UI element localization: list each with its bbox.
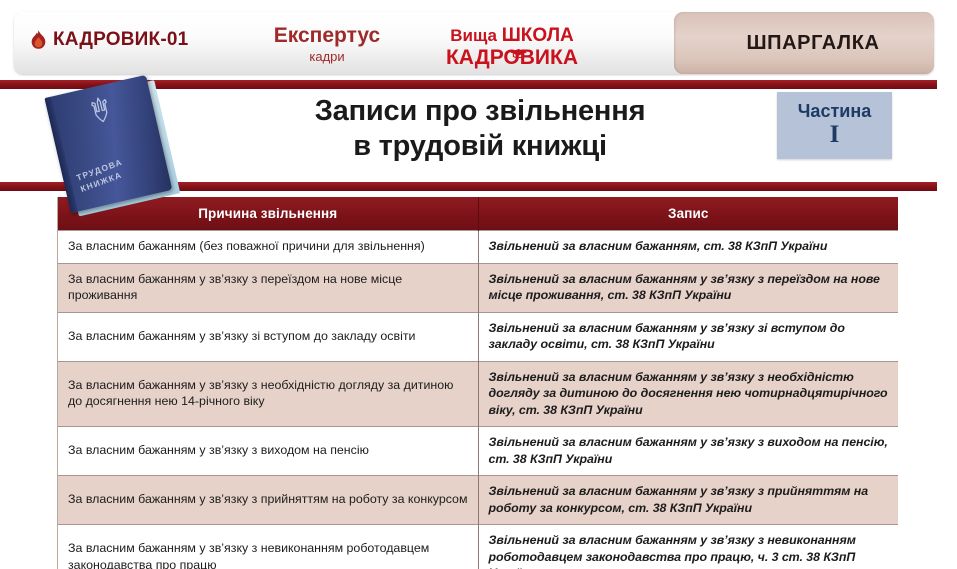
cell-record: Звільнений за власним бажанням, ст. 38 К… [478, 231, 898, 264]
cell-record: Звільнений за власним бажанням у зв’язку… [478, 525, 898, 569]
cell-record: Звільнений за власним бажанням у зв’язку… [478, 476, 898, 525]
cell-reason: За власним бажанням у зв’язку зі вступом… [58, 312, 478, 361]
cell-reason: За власним бажанням у зв’язку з виходом … [58, 427, 478, 476]
cell-reason: За власним бажанням у зв’язку з необхідн… [58, 361, 478, 427]
school-line2-wrap: КАДРОВИКА [446, 47, 578, 68]
graduation-cap-icon [510, 41, 527, 50]
table-row: За власним бажанням у зв’язку зі вступом… [58, 312, 898, 361]
table-body: За власним бажанням (без поважної причин… [58, 231, 898, 569]
cell-record: Звільнений за власним бажанням у зв’язку… [478, 361, 898, 427]
book-cover-text: ТРУДОВА КНИЖКА [75, 156, 129, 196]
brand-logo[interactable]: КАДРОВИК-01 [30, 29, 188, 51]
cell-reason: За власним бажанням у зв’язку з прийнятт… [58, 476, 478, 525]
flame-icon [30, 30, 47, 51]
table-row: За власним бажанням у зв’язку з виходом … [58, 427, 898, 476]
expertus-logo[interactable]: Експертус кадри [262, 25, 392, 64]
table-row: За власним бажанням у зв’язку з переїздо… [58, 263, 898, 312]
records-table: Причина звільнення Запис За власним бажа… [58, 197, 898, 569]
cell-record: Звільнений за власним бажанням у зв’язку… [478, 263, 898, 312]
cell-reason: За власним бажанням у зв’язку з переїздо… [58, 263, 478, 312]
cheatsheet-tab[interactable]: ШПАРГАЛКА [683, 12, 943, 74]
part-badge-word: Частина [798, 102, 871, 120]
table-row: За власним бажанням (без поважної причин… [58, 231, 898, 264]
top-header-bar: КАДРОВИК-01 Експертус кадри Вища ШКОЛА К… [0, 0, 957, 82]
part-badge-number: I [830, 122, 840, 148]
brand-name: КАДРОВИК-01 [53, 29, 188, 51]
table-row: За власним бажанням у зв’язку з необхідн… [58, 361, 898, 427]
cell-reason: За власним бажанням у зв’язку з невикона… [58, 525, 478, 569]
expertus-sub-label: кадри [262, 49, 392, 64]
part-badge: Частина I [777, 92, 892, 159]
column-header-record: Запис [478, 197, 898, 231]
school-line1-small: Вища [450, 26, 501, 45]
page-root: КАДРОВИК-01 Експертус кадри Вища ШКОЛА К… [0, 0, 957, 569]
table-row: За власним бажанням у зв’язку з прийнятт… [58, 476, 898, 525]
cell-record: Звільнений за власним бажанням у зв’язку… [478, 312, 898, 361]
expertus-main-label: Експертус [262, 25, 392, 47]
table-header-row: Причина звільнення Запис [58, 197, 898, 231]
page-title: Записи про звільнення в трудовій книжці [240, 94, 720, 165]
cell-record: Звільнений за власним бажанням у зв’язку… [478, 427, 898, 476]
cell-reason: За власним бажанням (без поважної причин… [58, 231, 478, 264]
page-title-line1: Записи про звільнення [240, 94, 720, 129]
records-table-wrap: Причина звільнення Запис За власним бажа… [57, 197, 897, 569]
school-logo[interactable]: Вища ШКОЛА КАДРОВИКА [424, 26, 600, 68]
table-head: Причина звільнення Запис [58, 197, 898, 231]
table-row: За власним бажанням у зв’язку з невикона… [58, 525, 898, 569]
ukraine-trident-emblem [86, 95, 114, 126]
page-title-line2: в трудовій книжці [240, 129, 720, 164]
